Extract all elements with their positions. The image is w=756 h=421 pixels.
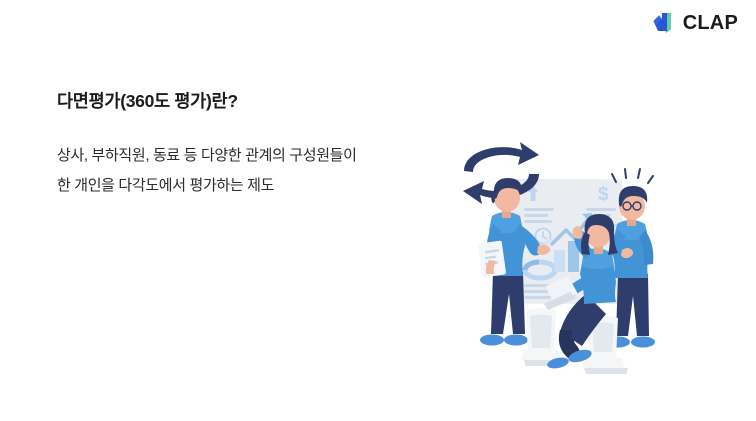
page-title: 다면평가(360도 평가)란?	[57, 90, 238, 113]
dollar-symbol: $	[598, 184, 609, 205]
body-copy: 상사, 부하직원, 동료 등 다양한 관계의 구성원들이 한 개인을 다각도에서…	[57, 141, 357, 201]
slide-canvas: CLAP 다면평가(360도 평가)란? 상사, 부하직원, 동료 등 다양한 …	[0, 0, 756, 421]
brand-wordmark: CLAP	[683, 13, 738, 33]
clap-logo-mark-icon	[651, 11, 676, 35]
360-feedback-team-illustration: $	[440, 124, 690, 380]
illustration-svg: $	[440, 124, 690, 380]
brand-logo[interactable]: CLAP	[651, 11, 738, 35]
chair-left	[521, 308, 564, 366]
body-line-2: 한 개인을 다각도에서 평가하는 제도	[57, 171, 357, 201]
body-line-1: 상사, 부하직원, 동료 등 다양한 관계의 구성원들이	[57, 141, 357, 171]
